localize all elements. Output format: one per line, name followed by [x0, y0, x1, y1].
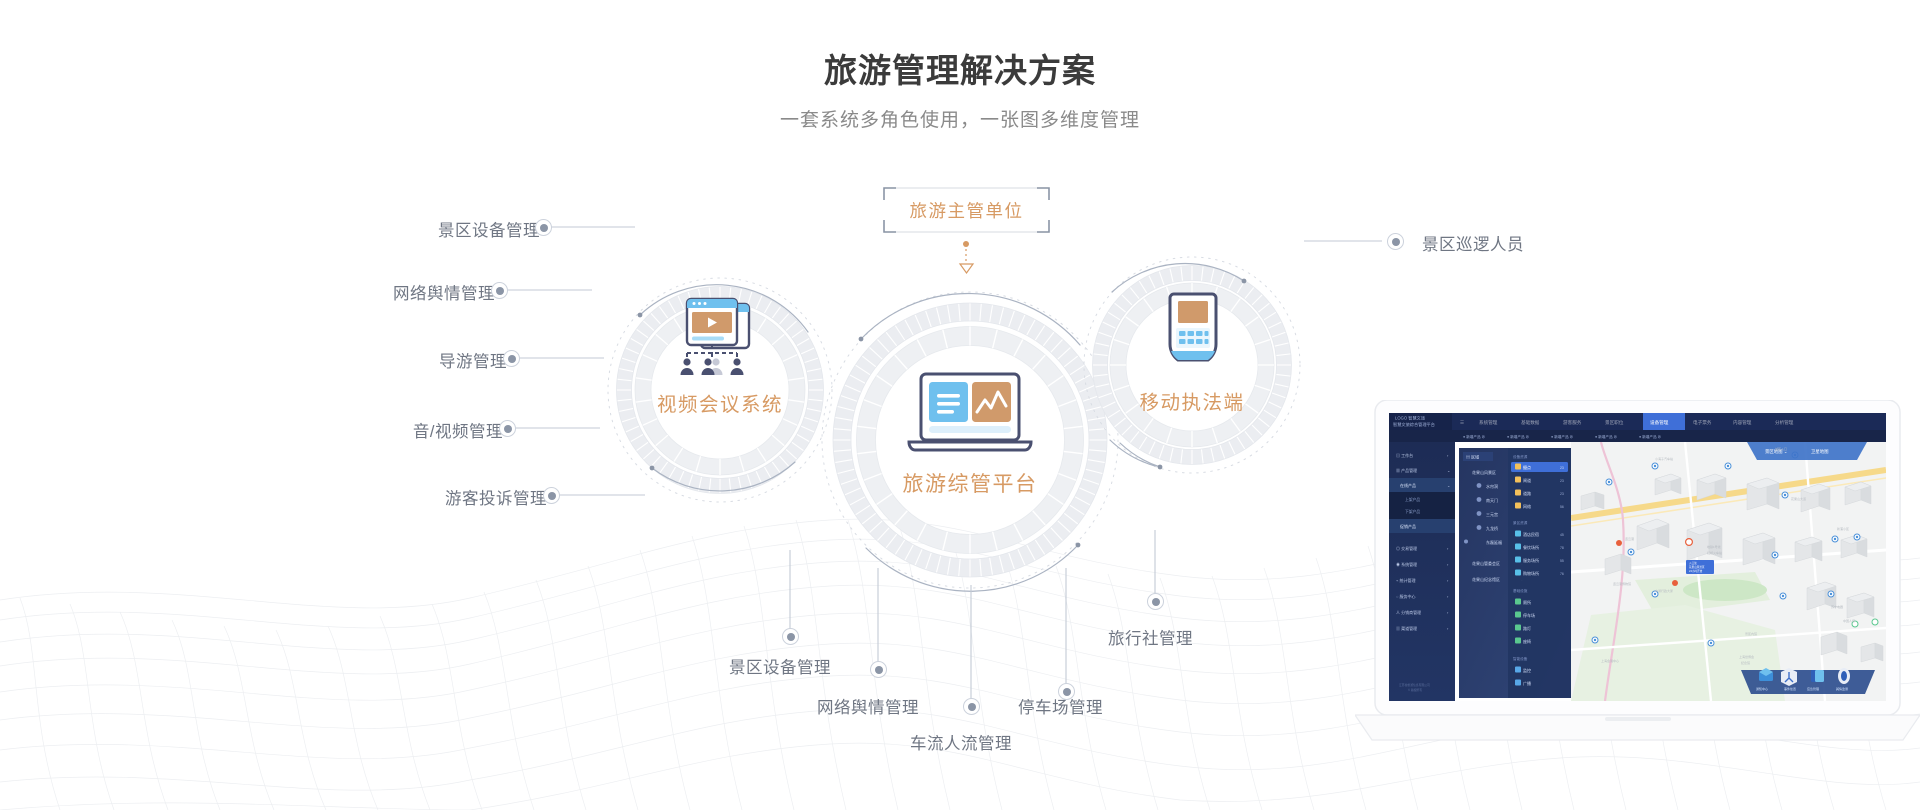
- svg-text:设备管理: 设备管理: [1650, 419, 1669, 426]
- svg-text:23: 23: [1560, 492, 1564, 496]
- video-conference-icon: [675, 290, 767, 387]
- left-node-dot-4[interactable]: [543, 487, 560, 504]
- node-label-mobile-enforcement: 移动执法端: [1112, 386, 1272, 415]
- svg-text:系统管理: 系统管理: [1479, 419, 1498, 426]
- svg-text:闸道: 闸道: [1523, 477, 1531, 483]
- svg-text:路灯: 路灯: [1523, 625, 1531, 631]
- bottom-label-4: 旅行社管理: [1108, 625, 1193, 649]
- bottom-node-dot-0[interactable]: [782, 628, 799, 645]
- svg-text:座椅: 座椅: [1523, 638, 1531, 644]
- svg-text:促销产品: 促销产品: [1400, 523, 1416, 529]
- svg-text:▥ 渠道管理: ▥ 渠道管理: [1396, 625, 1417, 631]
- svg-text:酒店民宿: 酒店民宿: [1523, 531, 1539, 537]
- left-label-0: 景区设备管理: [300, 217, 540, 241]
- svg-text:事件处置: 事件处置: [1784, 686, 1796, 691]
- bottom-connectors: [790, 530, 1155, 702]
- left-label-2: 导游管理: [267, 348, 507, 372]
- svg-text:连云港: 连云港: [1625, 536, 1634, 541]
- svg-text:56: 56: [1560, 505, 1564, 509]
- svg-text:人 分销商管理: 人 分销商管理: [1396, 609, 1421, 615]
- svg-text:应急管理: 应急管理: [1807, 686, 1819, 691]
- svg-text:上架产品: 上架产品: [1405, 497, 1420, 502]
- left-node-dot-3[interactable]: [499, 420, 516, 437]
- svg-text:45: 45: [1560, 533, 1564, 537]
- svg-text:东磊延福: 东磊延福: [1486, 539, 1502, 545]
- svg-text:购物场所: 购物场所: [1523, 570, 1539, 576]
- svg-text:厕所: 厕所: [1523, 599, 1531, 605]
- svg-text:下架产品: 下架产品: [1405, 509, 1420, 514]
- svg-text:入口处: 入口处: [1689, 561, 1697, 565]
- left-label-4: 游客投诉管理: [307, 485, 547, 509]
- left-label-1: 网络舆情管理: [255, 280, 495, 304]
- svg-text:▦ 产品管理: ▦ 产品管理: [1396, 467, 1417, 473]
- svg-text:设备资源: 设备资源: [1513, 454, 1528, 459]
- svg-text:◎ 交易管理: ◎ 交易管理: [1396, 545, 1417, 551]
- authority-box-label: 旅游主管单位: [884, 188, 1049, 232]
- svg-text:水帘洞: 水帘洞: [1486, 483, 1498, 489]
- svg-text:76: 76: [1560, 572, 1564, 576]
- svg-text:● 新增产品 ⊗: ● 新增产品 ⊗: [1463, 434, 1486, 439]
- right-node-dot-0[interactable]: [1387, 233, 1404, 250]
- svg-text:上海世博会: 上海世博会: [1739, 654, 1754, 659]
- svg-text:● 新增产品 ⊗: ● 新增产品 ⊗: [1595, 434, 1618, 439]
- node-label-video-conference: 视频会议系统: [620, 388, 820, 417]
- svg-text:在线产品: 在线产品: [1400, 482, 1416, 488]
- svg-text:监控: 监控: [1523, 667, 1531, 673]
- mobile-device-icon: [1160, 290, 1226, 381]
- left-node-dot-2[interactable]: [503, 350, 520, 367]
- svg-text:江苏省旅游信息有限公司: 江苏省旅游信息有限公司: [1399, 683, 1430, 687]
- svg-text:摄点: 摄点: [1523, 464, 1531, 470]
- svg-text:景区职位: 景区职位: [1605, 419, 1624, 426]
- svg-text:道路: 道路: [1523, 490, 1531, 496]
- svg-text:纪念馆: 纪念馆: [1741, 660, 1750, 665]
- bottom-label-3: 停车场管理: [1018, 694, 1103, 718]
- svg-text:九龙桥: 九龙桥: [1486, 525, 1498, 531]
- svg-text:▤ 区域: ▤ 区域: [1466, 454, 1479, 460]
- svg-text:通知中心: 通知中心: [1756, 686, 1768, 691]
- svg-text:花果山管委会区: 花果山管委会区: [1472, 560, 1500, 566]
- bottom-node-dot-1[interactable]: [870, 661, 887, 678]
- svg-text:花果山纪念馆区: 花果山纪念馆区: [1472, 576, 1500, 582]
- svg-text:服务场所: 服务场所: [1523, 557, 1539, 563]
- svg-text:● 新增产品 ⊗: ● 新增产品 ⊗: [1551, 434, 1574, 439]
- svg-text:花果山大道: 花果山大道: [1791, 496, 1806, 501]
- left-label-3: 音/视频管理: [263, 418, 503, 442]
- svg-text:花果山风景区: 花果山风景区: [1689, 565, 1705, 569]
- svg-text:© 版权所有: © 版权所有: [1408, 688, 1422, 692]
- node-label-tourism-platform: 旅游综管平台: [870, 468, 1070, 498]
- svg-text:▤ 工作台: ▤ 工作台: [1396, 452, 1413, 458]
- svg-text:虹桥火车站: 虹桥火车站: [1707, 550, 1722, 555]
- svg-text:78: 78: [1560, 546, 1564, 550]
- svg-text:停车场: 停车场: [1523, 612, 1535, 618]
- svg-text:城区入口: 城区入口: [1775, 446, 1787, 451]
- svg-text:景区资源: 景区资源: [1513, 520, 1528, 525]
- svg-text:苏宁电器: 苏宁电器: [1831, 604, 1843, 609]
- svg-text:24小时开放: 24小时开放: [1689, 569, 1703, 573]
- bottom-node-dot-4[interactable]: [1147, 593, 1164, 610]
- svg-text:⌁ 统计管理: ⌁ 统计管理: [1396, 577, 1416, 583]
- left-node-dot-1[interactable]: [491, 282, 508, 299]
- svg-text:55: 55: [1560, 559, 1564, 563]
- svg-text:舆情监测: 舆情监测: [1836, 686, 1848, 691]
- svg-text:电子票务: 电子票务: [1693, 419, 1712, 426]
- svg-text:三元宫: 三元宫: [1486, 511, 1498, 517]
- svg-text:⌄: ⌄: [1447, 483, 1450, 488]
- bottom-label-2: 车流人流管理: [910, 730, 1012, 754]
- svg-text:LOGO 智慧文旅: LOGO 智慧文旅: [1395, 415, 1426, 422]
- svg-text:广播: 广播: [1523, 680, 1531, 686]
- svg-text:上海会展中心: 上海会展中心: [1601, 658, 1619, 663]
- svg-text:景区内馆: 景区内馆: [1745, 631, 1757, 636]
- svg-text:◉ 系统管理: ◉ 系统管理: [1396, 561, 1417, 567]
- svg-text:地铁1号线: 地铁1号线: [1707, 544, 1721, 549]
- svg-text:中国人保: 中国人保: [1843, 618, 1855, 623]
- svg-text:⌄: ⌄: [1447, 468, 1450, 473]
- svg-text:南天门: 南天门: [1486, 497, 1498, 503]
- svg-text:基础数据: 基础数据: [1521, 419, 1540, 426]
- svg-text:23: 23: [1560, 479, 1564, 483]
- laptop-mockup: LOGO 智慧文旅 智慧文旅综合管理平台 ☰ 系统管理 基础数据 游客服务 景区…: [1355, 400, 1920, 770]
- svg-text:餐饮场所: 餐饮场所: [1523, 544, 1539, 550]
- bottom-node-dot-2[interactable]: [963, 698, 980, 715]
- bottom-label-1: 网络舆情管理: [817, 694, 919, 718]
- svg-text:23: 23: [1560, 466, 1564, 470]
- svg-text:● 新增产品 ⊗: ● 新增产品 ⊗: [1507, 434, 1530, 439]
- svg-text:分析管理: 分析管理: [1775, 419, 1794, 426]
- svg-text:网络: 网络: [1523, 503, 1531, 509]
- svg-text:智能设备: 智能设备: [1513, 656, 1528, 661]
- solution-diagram-page: 旅游管理解决方案 一套系统多角色使用，一张图多维度管理: [0, 0, 1920, 810]
- svg-text:智慧文旅综合管理平台: 智慧文旅综合管理平台: [1393, 421, 1435, 428]
- svg-text:卫星地图: 卫星地图: [1811, 448, 1829, 455]
- right-label-0: 景区巡逻人员: [1422, 231, 1524, 255]
- laptop-dashboard-icon: [905, 370, 1035, 467]
- svg-text:内容管理: 内容管理: [1733, 419, 1752, 426]
- svg-text:游客服务: 游客服务: [1563, 419, 1582, 426]
- svg-text:● 新增产品 ⊗: ● 新增产品 ⊗: [1639, 434, 1662, 439]
- svg-text:中通行政大厦: 中通行政大厦: [1655, 588, 1673, 593]
- svg-text:连云港博物馆: 连云港博物馆: [1613, 581, 1631, 586]
- svg-text:◌ 服务中心: ◌ 服务中心: [1396, 593, 1416, 599]
- svg-text:小海子汽车站: 小海子汽车站: [1655, 456, 1673, 461]
- bottom-label-0: 景区设备管理: [729, 654, 831, 678]
- svg-text:基础设施: 基础设施: [1513, 588, 1528, 593]
- svg-text:花果山风景区: 花果山风景区: [1472, 469, 1496, 475]
- left-node-dot-0[interactable]: [535, 219, 552, 236]
- svg-text:新浦小区: 新浦小区: [1837, 526, 1849, 531]
